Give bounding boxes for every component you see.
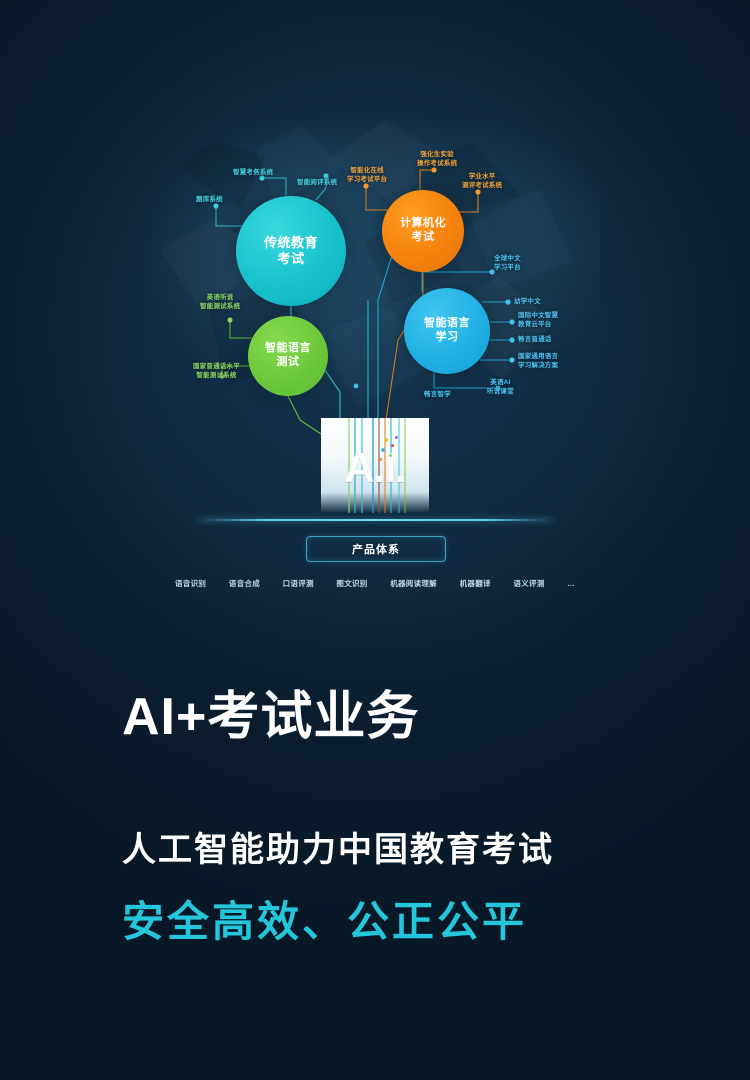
node-label-line2: 学习 [424, 331, 470, 345]
node-label-line2: 测试 [265, 356, 311, 370]
node-label-line1: 传统教育 [264, 235, 318, 251]
spark-dot [381, 448, 385, 452]
leaf-label-national-language-solution: 国家通用语言 学习解决方案 [518, 352, 558, 371]
leaf-label-online-learning-exam: 智能化在线 学习考试平台 [347, 166, 387, 185]
tag-item[interactable]: 图文识别 [336, 578, 367, 589]
tag-item[interactable]: 语义评测 [513, 578, 544, 589]
page-title: AI+考试业务 [122, 674, 419, 749]
node-label-line2: 考试 [400, 231, 446, 245]
ai-wordmark-text: A.I. [321, 444, 429, 492]
node-language-test[interactable]: 智能语言 测试 [248, 316, 328, 396]
hero-illustration: 传统教育 考试 计算机化 考试 智能语言 测试 智能语言 学习 智慧考务系统 [0, 0, 750, 640]
leaf-label-smart-marking: 智能阅评系统 [297, 178, 337, 187]
node-label-line1: 智能语言 [424, 317, 470, 331]
leaf-label-lab-operation-exam: 强化生实验 操作考试系统 [417, 150, 457, 169]
leaf-label-academic-level-exam: 学业水平 测评考试系统 [462, 172, 502, 191]
leaf-label-english-speaking-test: 英语听说 智能测试系统 [200, 293, 240, 312]
spark-dot [391, 444, 394, 447]
leaf-label-question-bank: 题库系统 [196, 195, 223, 204]
spark-dot [384, 438, 388, 442]
spark-dot [389, 454, 392, 457]
tag-item-ellipsis: … [567, 579, 575, 588]
leaf-label-smart-exam-admin: 智慧考务系统 [233, 168, 273, 177]
leaf-label-putonghua-test: 国家普通话水平 智能测试系统 [193, 362, 240, 381]
leaf-label-changyan-putonghua: 畅言普通话 [518, 335, 552, 344]
page-root: 传统教育 考试 计算机化 考试 智能语言 测试 智能语言 学习 智慧考务系统 [0, 0, 750, 1080]
node-label-line2: 考试 [264, 251, 318, 267]
leaf-label-english-ai-classroom: 英语AI 听说课堂 [487, 378, 514, 397]
tag-item[interactable]: 口语评测 [283, 578, 314, 589]
spark-dot [379, 458, 382, 461]
tag-item[interactable]: 机器阅读理解 [390, 578, 437, 589]
tag-item[interactable]: 语音合成 [229, 578, 260, 589]
capability-tag-row: 语音识别 语音合成 口语评测 图文识别 机器阅读理解 机器翻译 语义评测 … [175, 578, 575, 589]
node-label-line1: 智能语言 [265, 342, 311, 356]
leaf-label-changyan-zhixue: 畅言智学 [424, 390, 451, 399]
leaf-label-kids-chinese: 幼学中文 [514, 297, 541, 306]
node-label-line1: 计算机化 [400, 217, 446, 231]
separator-line [197, 519, 553, 521]
leaf-label-global-chinese-platform: 全球中文 学习平台 [494, 254, 521, 273]
node-computerized-exam[interactable]: 计算机化 考试 [382, 190, 464, 272]
spark-dot [395, 436, 398, 439]
subtitle-primary: 人工智能助力中国教育考试 [122, 822, 554, 871]
node-language-learning[interactable]: 智能语言 学习 [404, 288, 490, 374]
subtitle-accent: 安全高效、公正公平 [122, 888, 527, 949]
leaf-label-intl-chinese-cloud: 国际中文智慧 教育云平台 [518, 311, 558, 330]
product-system-badge[interactable]: 产品体系 [306, 536, 446, 562]
tag-item[interactable]: 语音识别 [175, 578, 206, 589]
ai-wordmark-block: A.I. [321, 418, 429, 513]
node-traditional-exam[interactable]: 传统教育 考试 [236, 196, 346, 306]
tag-item[interactable]: 机器翻译 [460, 578, 491, 589]
